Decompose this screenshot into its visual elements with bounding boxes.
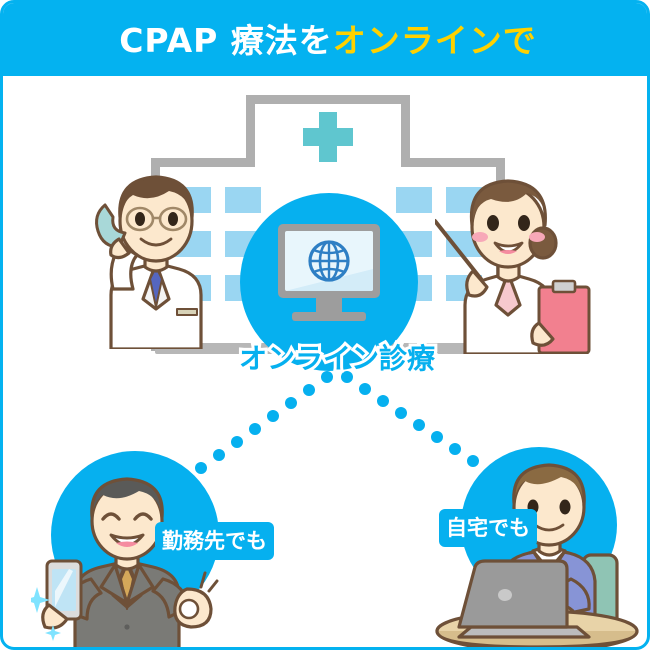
title-yellow-part: オンラインで: [333, 21, 537, 60]
connector-dot: [303, 384, 315, 396]
male-doctor-figure: [81, 159, 231, 349]
connector-dot: [377, 395, 389, 407]
title-white-part: CPAP 療法を: [119, 21, 333, 60]
building-window: [396, 187, 432, 213]
medical-cross-icon-bar: [303, 128, 353, 146]
female-staff-figure: [435, 159, 600, 354]
home-user-figure: [433, 459, 648, 650]
promo-card: CPAP 療法をオンラインで: [0, 0, 650, 650]
connector-dot: [359, 383, 371, 395]
connector-dot: [431, 431, 443, 443]
connector-dot: [249, 423, 261, 435]
connector-dot: [449, 443, 461, 455]
illustration-stage: オンライン診療 勤務先でも 自宅でも: [3, 79, 650, 650]
connector-dot: [267, 410, 279, 422]
connector-dot: [231, 436, 243, 448]
header-banner: CPAP 療法をオンラインで: [0, 0, 650, 76]
monitor-stand-base: [292, 312, 366, 321]
hospital-outline-upper-left: [246, 95, 255, 167]
hospital-outline-upper-right: [401, 95, 410, 167]
connector-dot: [395, 407, 407, 419]
connector-dot: [213, 449, 225, 461]
connector-dot: [285, 397, 297, 409]
page-title: CPAP 療法をオンラインで: [119, 14, 537, 62]
hospital-outline-top: [246, 95, 410, 104]
globe-icon: [305, 239, 353, 283]
home-label-badge: 自宅でも: [439, 509, 537, 547]
workplace-label-badge: 勤務先でも: [155, 522, 274, 560]
connector-dot: [413, 419, 425, 431]
online-consult-label: オンライン診療: [239, 337, 435, 377]
